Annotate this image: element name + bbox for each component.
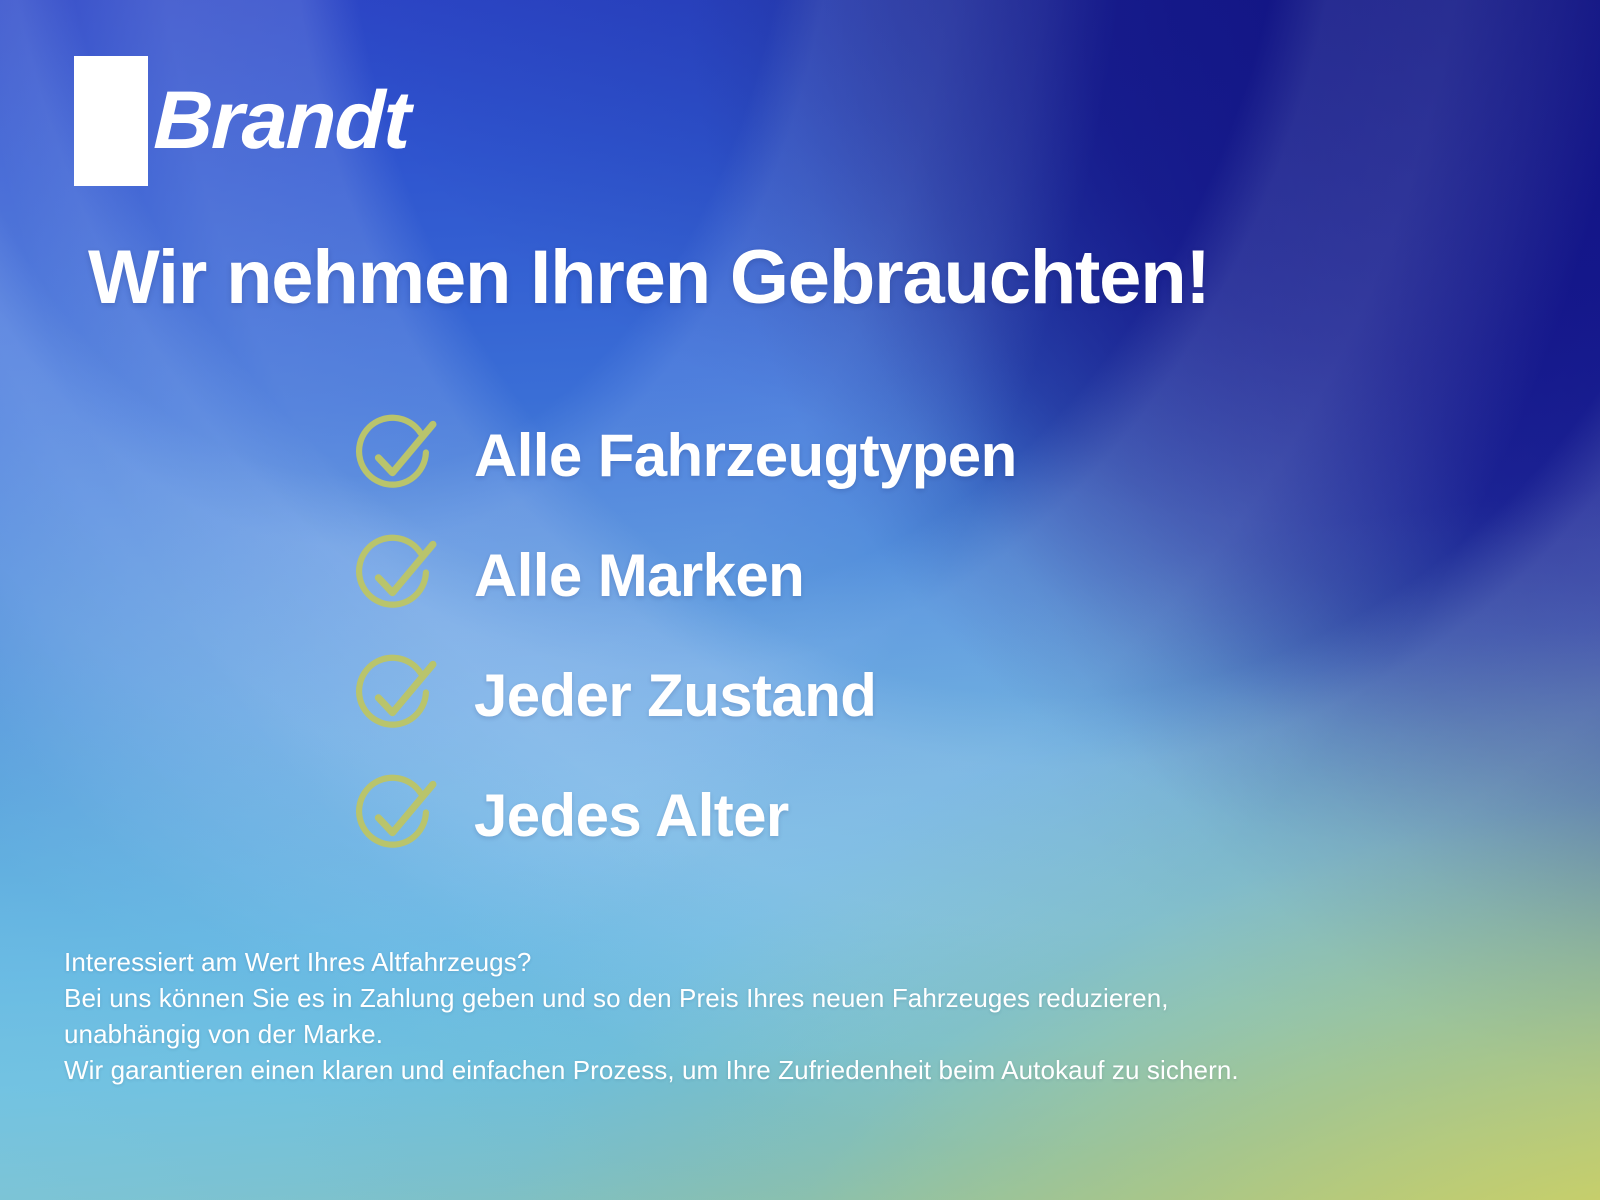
feature-label: Jedes Alter: [474, 786, 789, 846]
bracket-crescent-icon: [74, 56, 148, 186]
feature-label: Jeder Zustand: [474, 666, 876, 726]
list-item: Jeder Zustand: [352, 636, 1017, 756]
feature-label: Alle Marken: [474, 546, 804, 606]
check-circle-icon: [352, 412, 440, 500]
check-circle-icon: [352, 532, 440, 620]
footer-line: Wir garantieren einen klaren und einfach…: [64, 1052, 1239, 1088]
list-item: Jedes Alter: [352, 756, 1017, 876]
brand-name: Brandt: [153, 80, 411, 162]
check-circle-icon: [352, 772, 440, 860]
footer-line: Bei uns können Sie es in Zahlung geben u…: [64, 980, 1239, 1016]
footer-line: Interessiert am Wert Ihres Altfahrzeugs?: [64, 944, 1239, 980]
check-circle-icon: [352, 652, 440, 740]
poster-content: Brandt Wir nehmen Ihren Gebrauchten! All…: [0, 0, 1600, 1200]
footer-paragraph: Interessiert am Wert Ihres Altfahrzeugs?…: [64, 944, 1239, 1088]
page-title: Wir nehmen Ihren Gebrauchten!: [88, 238, 1210, 318]
list-item: Alle Fahrzeugtypen: [352, 396, 1017, 516]
brand-logo: Brandt: [74, 56, 409, 186]
feature-list: Alle Fahrzeugtypen Alle Marken Jeder Zus…: [352, 396, 1017, 876]
feature-label: Alle Fahrzeugtypen: [474, 426, 1017, 486]
promo-poster: Brandt Wir nehmen Ihren Gebrauchten! All…: [0, 0, 1600, 1200]
list-item: Alle Marken: [352, 516, 1017, 636]
footer-line: unabhängig von der Marke.: [64, 1016, 1239, 1052]
